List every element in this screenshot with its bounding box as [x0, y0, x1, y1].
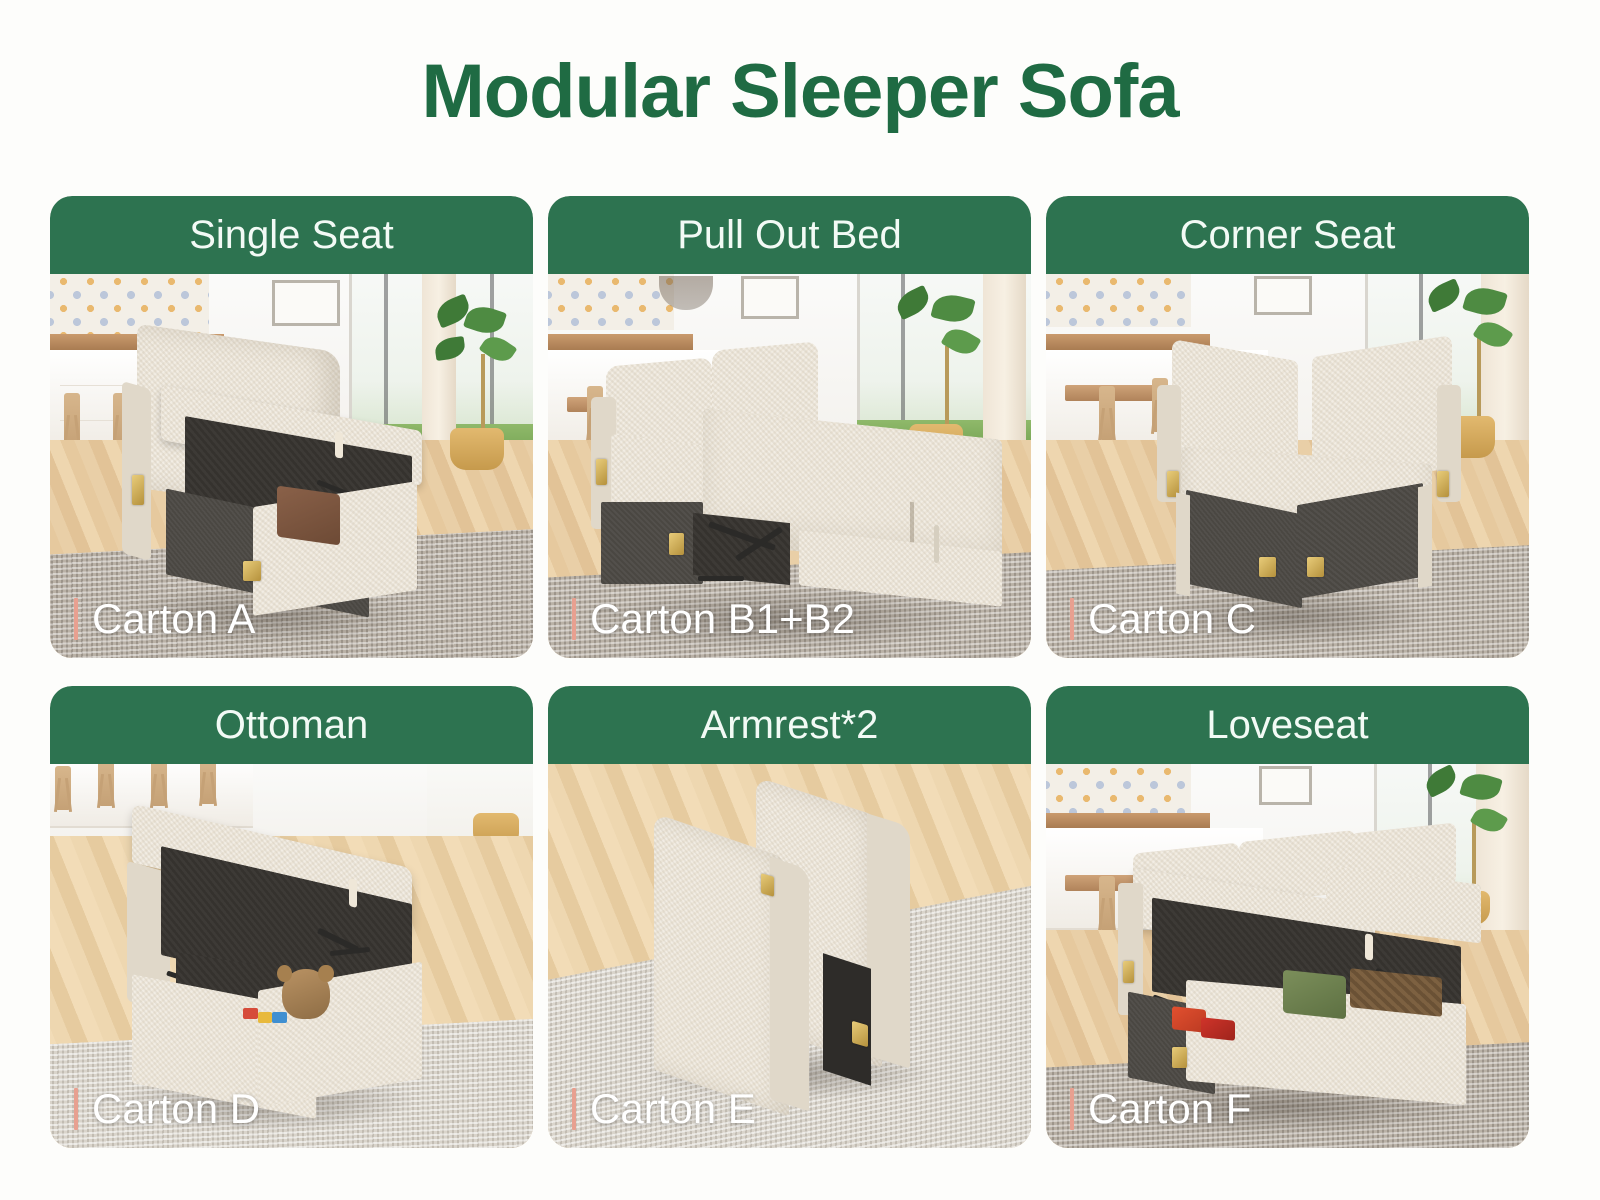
product-card-loveseat[interactable]: Loveseat [1046, 686, 1529, 1148]
carton-text: Carton C [1088, 598, 1256, 640]
carton-text: Carton A [92, 598, 255, 640]
card-header-pull-out-bed: Pull Out Bed [548, 196, 1031, 274]
product-card-grid: Single Seat [50, 196, 1550, 1148]
carton-label-b: Carton B1+B2 [572, 598, 855, 640]
carton-accent-bar [1070, 1088, 1074, 1130]
carton-accent-bar [1070, 598, 1074, 640]
card-header-label: Pull Out Bed [677, 215, 902, 255]
product-card-pull-out-bed[interactable]: Pull Out Bed [548, 196, 1031, 658]
product-card-ottoman[interactable]: Ottoman [50, 686, 533, 1148]
card-header-loveseat: Loveseat [1046, 686, 1529, 764]
card-header-corner-seat: Corner Seat [1046, 196, 1529, 274]
carton-accent-bar [74, 1088, 78, 1130]
carton-accent-bar [572, 598, 576, 640]
card-header-label: Ottoman [215, 705, 368, 745]
page-title: Modular Sleeper Sofa [0, 0, 1600, 150]
card-header-label: Loveseat [1206, 705, 1368, 745]
carton-label-a: Carton A [74, 598, 255, 640]
card-header-label: Corner Seat [1180, 215, 1396, 255]
card-header-label: Single Seat [189, 215, 394, 255]
carton-text: Carton D [92, 1088, 260, 1130]
carton-label-d: Carton D [74, 1088, 260, 1130]
carton-label-e: Carton E [572, 1088, 756, 1130]
carton-accent-bar [74, 598, 78, 640]
carton-text: Carton F [1088, 1088, 1251, 1130]
carton-label-f: Carton F [1070, 1088, 1251, 1130]
card-header-ottoman: Ottoman [50, 686, 533, 764]
decor-green-pillow [1283, 969, 1346, 1018]
product-card-armrest[interactable]: Armrest*2 Carton E [548, 686, 1031, 1148]
carton-text: Carton E [590, 1088, 756, 1130]
decor-pillow [277, 486, 340, 546]
product-card-corner-seat[interactable]: Corner Seat [1046, 196, 1529, 658]
card-header-label: Armrest*2 [701, 705, 879, 745]
carton-text: Carton B1+B2 [590, 598, 855, 640]
card-header-single-seat: Single Seat [50, 196, 533, 274]
product-card-single-seat[interactable]: Single Seat [50, 196, 533, 658]
card-header-armrest: Armrest*2 [548, 686, 1031, 764]
carton-label-c: Carton C [1070, 598, 1256, 640]
carton-accent-bar [572, 1088, 576, 1130]
